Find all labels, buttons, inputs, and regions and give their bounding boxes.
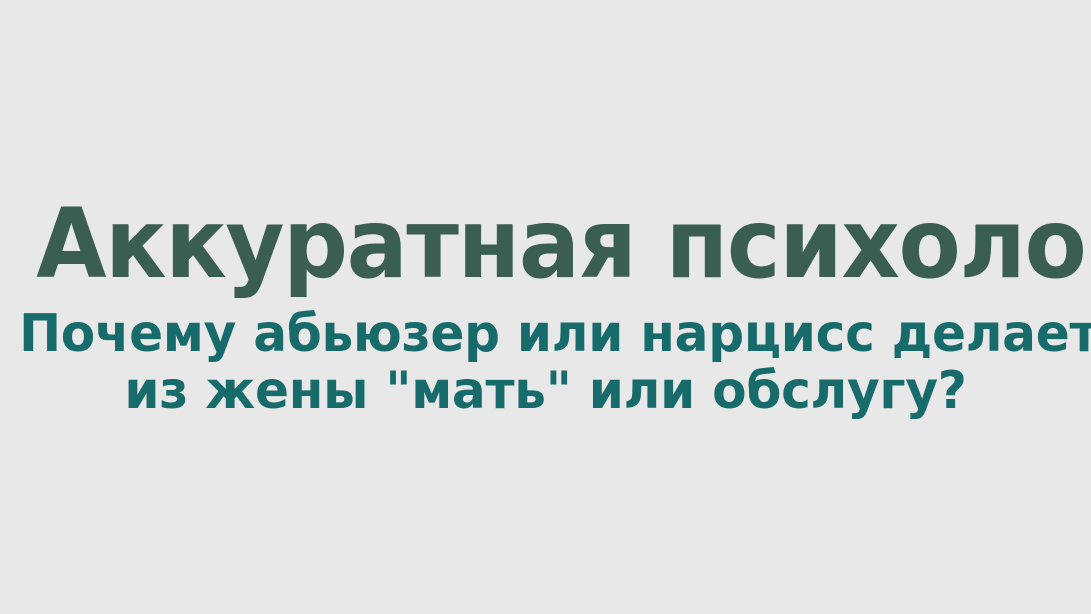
subtitle-line-2: из жены "мать" или обслугу? [19, 363, 1072, 420]
text-card: Аккуратная психология. Почему абьюзер ил… [0, 0, 1091, 614]
subtitle-container: Почему абьюзер или нарцисс делает из жен… [0, 306, 1091, 420]
title-container: Аккуратная психология. [0, 196, 1091, 292]
page-title: Аккуратная психология. [36, 196, 1091, 292]
subtitle-line-1: Почему абьюзер или нарцисс делает [19, 306, 1072, 363]
